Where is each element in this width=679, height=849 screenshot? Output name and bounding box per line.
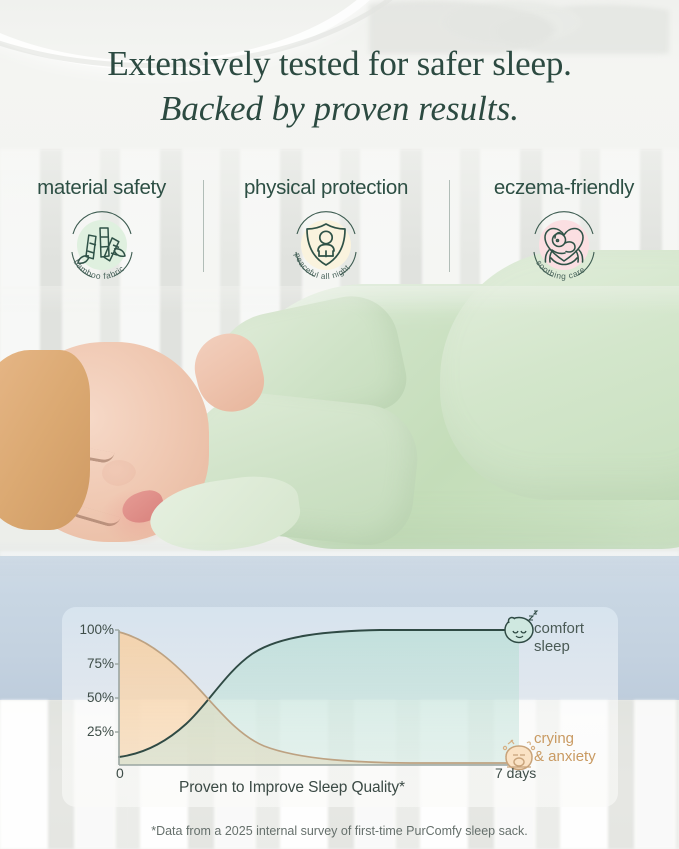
chart-title: Proven to Improve Sleep Quality* (62, 779, 522, 797)
legend-crying-anxiety: crying & anxiety (534, 730, 596, 766)
legend-crying-line1: crying (534, 730, 596, 748)
legend-comfort-sleep: comfort sleep (534, 620, 584, 656)
sleeping-baby-face-icon (505, 611, 537, 643)
y-tick-75: 75% (62, 656, 114, 671)
y-tick-25: 25% (62, 724, 114, 739)
legend-comfort-line2: sleep (534, 638, 584, 656)
poster-root: Extensively tested for safer sleep. Back… (0, 0, 679, 849)
y-tick-50: 50% (62, 690, 114, 705)
footnote: *Data from a 2025 internal survey of fir… (0, 824, 679, 838)
sleep-quality-chart (0, 0, 679, 849)
y-tick-100: 100% (62, 622, 114, 637)
legend-crying-line2: & anxiety (534, 748, 596, 766)
legend-comfort-line1: comfort (534, 620, 584, 638)
